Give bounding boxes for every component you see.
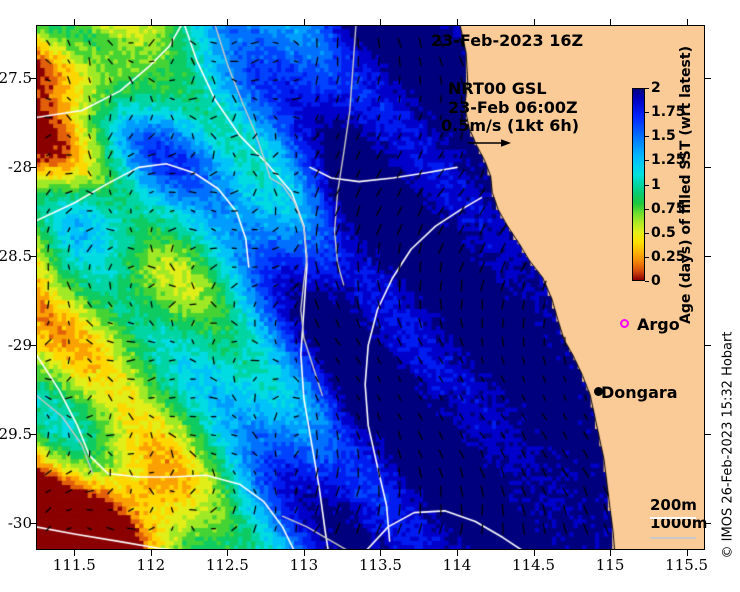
x-axis-tick-label: 112.5 bbox=[206, 556, 249, 574]
colorbar-tick bbox=[645, 136, 649, 137]
colorbar-title: Age (days) of filled SST (wrt latest) bbox=[678, 46, 694, 324]
y-axis-tick bbox=[705, 434, 711, 435]
depth-legend-200m-label: 200m bbox=[650, 496, 707, 514]
x-axis-tick-label: 114.5 bbox=[512, 556, 555, 574]
y-axis-tick-label: -29.5 bbox=[0, 425, 32, 443]
colorbar-tick bbox=[645, 88, 649, 89]
colorbar-tick bbox=[645, 209, 649, 210]
colorbar-tick bbox=[645, 233, 649, 234]
map-plot-area[interactable] bbox=[36, 25, 705, 550]
argo-marker-icon[interactable] bbox=[620, 319, 629, 328]
x-axis-tick bbox=[457, 19, 458, 25]
colorbar-tick-label: 0.5 bbox=[651, 225, 676, 241]
x-axis-tick bbox=[534, 19, 535, 25]
source-label-line2: 23-Feb 06:00Z bbox=[448, 98, 578, 117]
y-axis-tick-label: -29 bbox=[8, 336, 32, 354]
map-overlays bbox=[36, 25, 705, 550]
y-axis-tick-label: -27.5 bbox=[0, 69, 32, 87]
colorbar-tick bbox=[645, 160, 649, 161]
y-axis-tick bbox=[705, 167, 711, 168]
depth-legend: 200m 1000m bbox=[650, 496, 707, 532]
x-axis-tick bbox=[610, 19, 611, 25]
colorbar-tick bbox=[645, 112, 649, 113]
colorbar-tick-label: 2 bbox=[651, 80, 661, 96]
x-axis-tick-label: 113.5 bbox=[359, 556, 402, 574]
figure-canvas: 23-Feb-2023 16Z NRT00 GSL 23-Feb 06:00Z … bbox=[0, 0, 740, 592]
y-axis-tick bbox=[705, 256, 711, 257]
date-stamp: 23-Feb-2023 16Z bbox=[431, 31, 583, 50]
x-axis-tick bbox=[687, 19, 688, 25]
colorbar[interactable] bbox=[632, 88, 645, 281]
x-axis-tick bbox=[304, 19, 305, 25]
x-axis-tick-label: 111.5 bbox=[53, 556, 96, 574]
x-axis-tick bbox=[380, 19, 381, 25]
dongara-label: Dongara bbox=[601, 383, 678, 402]
y-axis-tick-label: -28 bbox=[8, 158, 32, 176]
x-axis-tick-label: 113 bbox=[290, 556, 319, 574]
colorbar-tick-label: 0 bbox=[651, 273, 661, 289]
y-axis-tick bbox=[705, 523, 711, 524]
x-axis-tick bbox=[74, 19, 75, 25]
x-axis-tick bbox=[151, 19, 152, 25]
y-axis-tick bbox=[705, 78, 711, 79]
colorbar-tick bbox=[645, 281, 649, 282]
velocity-scale-label: 0.5m/s (1kt 6h) bbox=[441, 116, 579, 135]
y-axis-tick bbox=[705, 345, 711, 346]
x-axis-tick-label: 115.5 bbox=[665, 556, 708, 574]
x-axis-tick-label: 114 bbox=[443, 556, 472, 574]
source-label-line1: NRT00 GSL bbox=[448, 79, 547, 98]
depth-legend-1000m-line bbox=[650, 537, 696, 539]
colorbar-tick-label: 1.5 bbox=[651, 128, 676, 144]
y-axis-tick-label: -30 bbox=[8, 514, 32, 532]
y-axis-tick-label: -28.5 bbox=[0, 247, 32, 265]
credit-text: © IMOS 26-Feb-2023 15:32 Hobart bbox=[721, 332, 736, 559]
colorbar-tick bbox=[645, 185, 649, 186]
colorbar-tick bbox=[645, 257, 649, 258]
depth-legend-200m-line bbox=[650, 517, 696, 519]
x-axis-tick bbox=[227, 19, 228, 25]
velocity-scale-arrow-icon bbox=[467, 136, 513, 150]
x-axis-tick-label: 112 bbox=[136, 556, 165, 574]
argo-label: Argo bbox=[637, 315, 680, 334]
colorbar-tick-label: 1 bbox=[651, 177, 661, 193]
x-axis-tick-label: 115 bbox=[596, 556, 625, 574]
